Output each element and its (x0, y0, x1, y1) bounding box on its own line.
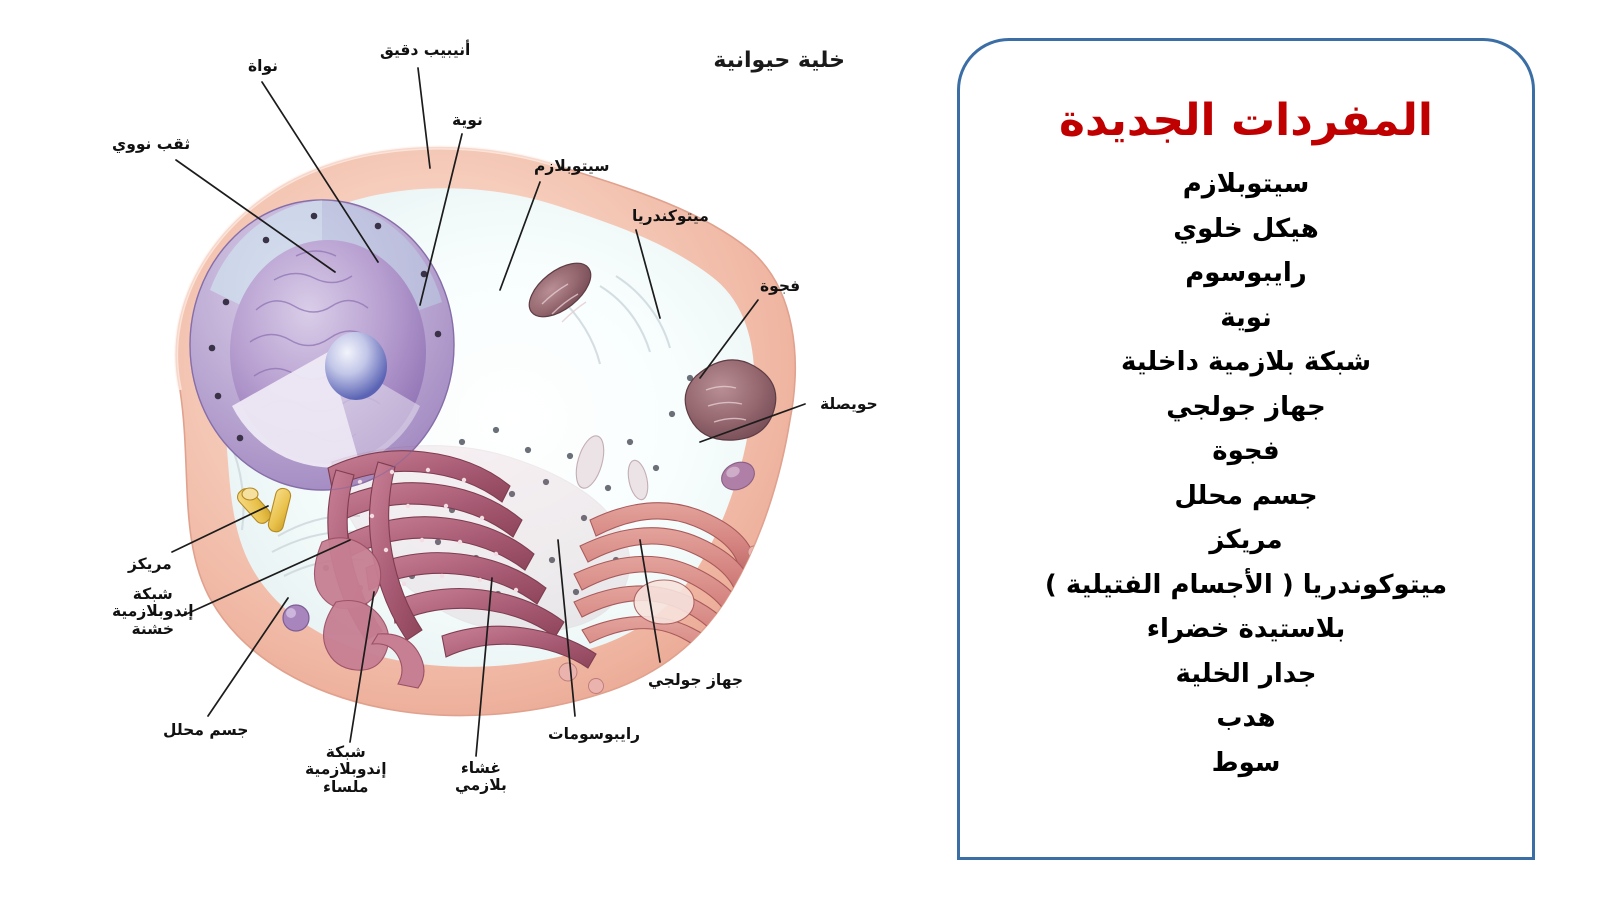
diagram-label-nuclear-pore: ثقب نووي (112, 136, 190, 153)
vocabulary-item: فجوة (960, 429, 1532, 474)
diagram-label-nucleolus: نوية (452, 112, 483, 129)
new-vocabulary-box: المفردات الجديدة سيتوبلازمهيكل خلويرايبو… (957, 38, 1535, 860)
vocabulary-item: سيتوبلازم (960, 162, 1532, 207)
vocabulary-item: رايبوسوم (960, 251, 1532, 296)
vocabulary-item: نوية (960, 296, 1532, 341)
diagram-label-lysosome: جسم محلل (163, 722, 248, 739)
vocabulary-item: مريكز (960, 518, 1532, 563)
vocabulary-item: هدب (960, 696, 1532, 741)
diagram-label-vacuole: فجوة (760, 278, 800, 295)
diagram-label-cytoplasm: سيتوبلازم (534, 158, 610, 175)
vocabulary-item: جهاز جولجي (960, 385, 1532, 430)
vocabulary-title: المفردات الجديدة (960, 95, 1532, 146)
vocabulary-item: ميتوكوندريا ( الأجسام الفتيلية ) (960, 563, 1532, 608)
vocabulary-item: هيكل خلوي (960, 207, 1532, 252)
vocabulary-item: سوط (960, 741, 1532, 786)
diagram-label-mitochondria: ميتوكندريا (632, 208, 709, 225)
diagram-label-golgi-apparatus: جهاز جولجي (648, 672, 743, 689)
diagram-label-rough-er: شبكة إندوبلازمية خشنة (112, 586, 194, 638)
diagram-label-ribosomes: رايبوسومات (548, 726, 640, 743)
vocabulary-item: شبكة بلازمية داخلية (960, 340, 1532, 385)
diagram-label-plasma-membrane: غشاء بلازمي (455, 760, 507, 795)
lysosome (283, 605, 309, 631)
animal-cell-diagram-panel: خلية حيوانية (0, 0, 940, 900)
slide-canvas: خلية حيوانية (0, 0, 1600, 900)
diagram-label-centriole: مريكز (128, 556, 172, 573)
diagram-label-microtubule: أنيبيب دقيق (380, 42, 470, 59)
vocabulary-list: سيتوبلازمهيكل خلويرايبوسومنويةشبكة بلازم… (960, 162, 1532, 785)
diagram-label-nucleus: نواة (248, 58, 278, 75)
vocabulary-item: بلاستيدة خضراء (960, 607, 1532, 652)
diagram-title: خلية حيوانية (713, 48, 845, 73)
vocabulary-item: جدار الخلية (960, 652, 1532, 697)
nucleolus (325, 332, 387, 400)
diagram-label-vesicle: حويصلة (820, 396, 878, 413)
vocabulary-item: جسم محلل (960, 474, 1532, 519)
diagram-label-smooth-er: شبكة إندوبلازمية ملساء (305, 744, 387, 796)
